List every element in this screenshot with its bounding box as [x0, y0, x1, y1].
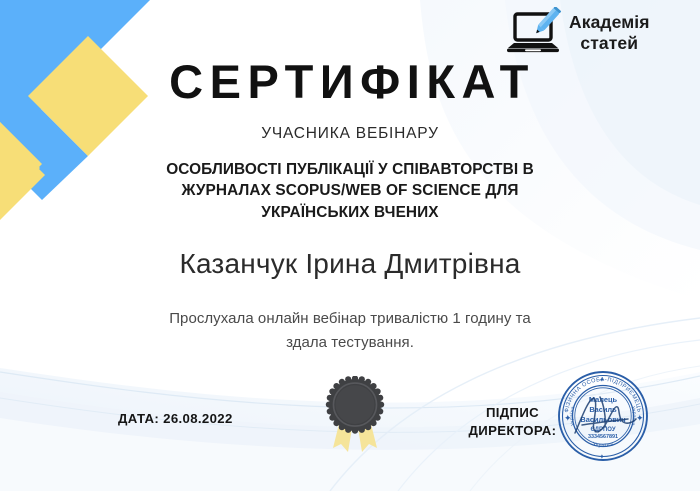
certificate-title: СЕРТИФІКАТ [124, 58, 580, 105]
director-signature-line1: ПІДПИС [460, 404, 565, 422]
completion-statement-line2: здала тестування. [120, 331, 580, 355]
webinar-topic-line3: УКРАЇНСЬКИХ ВЧЕНИХ [120, 202, 580, 223]
blue-square-shape-lower [0, 8, 88, 200]
completion-statement-line1: Прослухала онлайн вебінар тривалістю 1 г… [120, 307, 580, 331]
yellow-large-square-fill [0, 50, 45, 265]
brand-logo-text: Академія статей [569, 12, 650, 53]
issue-date: ДАТА: 26.08.2022 [118, 411, 233, 426]
medal-center [336, 385, 375, 424]
award-medal-rosette-icon [322, 376, 388, 454]
yellow-large-square-body [0, 55, 42, 260]
director-signature-label: ПІДПИС ДИРЕКТОРА: [460, 404, 565, 440]
certificate-body: СЕРТИФІКАТ УЧАСНИКА ВЕБІНАРУ ОСОБЛИВОСТІ… [120, 58, 580, 355]
svg-text:✦: ✦ [636, 413, 644, 423]
webinar-topic-line2: ЖУРНАЛАХ SCOPUS/WEB OF SCIENCE ДЛЯ [120, 180, 580, 201]
yellow-large-square-shape [0, 62, 40, 262]
completion-statement: Прослухала онлайн вебінар тривалістю 1 г… [120, 307, 580, 356]
stamp-name-line1: Малець [589, 395, 618, 404]
brand-logo-line1: Академія [569, 12, 650, 32]
yellow-large-square-shape-b [0, 62, 42, 222]
svg-text:✦: ✦ [599, 453, 605, 461]
laptop-with-pencil-icon [505, 7, 563, 59]
webinar-topic-line1: ОСОБЛИВОСТІ ПУБЛІКАЦІЇ У СПІВАВТОРСТВІ В [120, 159, 580, 180]
director-signature-line2: ДИРЕКТОРА: [460, 422, 565, 440]
brand-logo-line2: статей [569, 33, 650, 54]
stamp-number-text: 3334567891 [588, 434, 618, 440]
official-round-stamp-icon: ✦ ✦ ✦ ✦ ФІЗИЧНА ОСОБА-ПІДПРИЄМЕЦЬ Україн… [556, 369, 650, 463]
recipient-name: Казанчук Ірина Дмитрівна [120, 248, 580, 280]
certificate-canvas: Академія статей СЕРТИФІКАТ УЧАСНИКА ВЕБІ… [0, 0, 700, 491]
webinar-topic: ОСОБЛИВОСТІ ПУБЛІКАЦІЇ У СПІВАВТОРСТВІ В… [120, 159, 580, 223]
yellow-large-square-shape-c [0, 58, 40, 268]
stamp-outer-bottom-text: Україна [592, 441, 615, 449]
certificate-subtitle: УЧАСНИКА ВЕБІНАРУ [120, 125, 580, 143]
